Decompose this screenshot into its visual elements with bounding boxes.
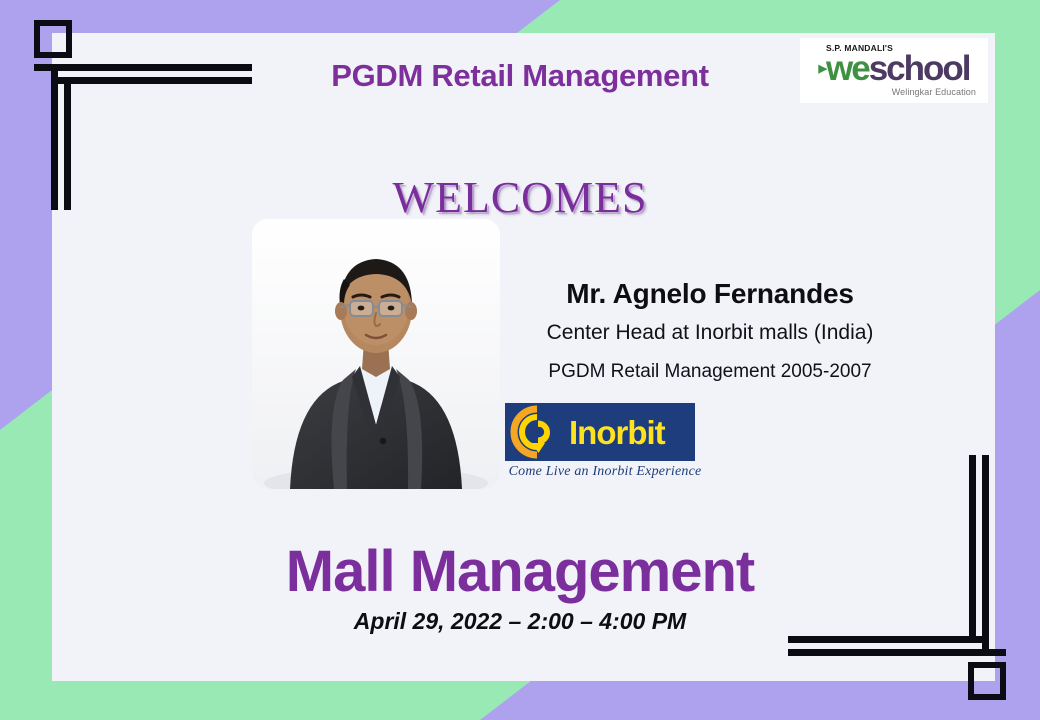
- weschool-word-school: school: [869, 51, 970, 86]
- speaker-photo: [252, 219, 500, 489]
- speaker-role: Center Head at Inorbit malls (India): [500, 321, 920, 345]
- weschool-tagline: Welingkar Education: [800, 87, 988, 97]
- ornament-line-vertical-outer: [51, 64, 58, 210]
- weschool-word-we: we: [826, 51, 869, 86]
- ornament-line-horizontal-outer: [34, 64, 252, 71]
- corner-ornament-bottom-right: [776, 455, 1006, 700]
- ornament-square-icon: [968, 662, 1006, 700]
- ornament-line-horizontal-inner: [788, 636, 989, 643]
- event-poster: PGDM Retail Management S.P. MANDALI'S ▶ …: [0, 0, 1040, 720]
- corner-ornament-top-left: [34, 20, 264, 210]
- inorbit-wordmark: Inorbit: [569, 416, 665, 449]
- inorbit-logo: Inorbit: [505, 403, 695, 461]
- speaker-name: Mr. Agnelo Fernandes: [500, 278, 920, 310]
- play-arrow-icon: ▶: [819, 64, 825, 75]
- weschool-wordmark: ▶ we school: [819, 51, 970, 86]
- inorbit-spiral-icon: [505, 403, 565, 461]
- inorbit-tagline: Come Live an Inorbit Experience: [505, 464, 705, 480]
- ornament-line-vertical-inner: [969, 455, 976, 643]
- speaker-program: PGDM Retail Management 2005-2007: [500, 361, 920, 383]
- ornament-line-horizontal-inner: [51, 77, 252, 84]
- speaker-headshot-icon: [252, 219, 500, 489]
- page-title: PGDM Retail Management: [270, 58, 770, 94]
- ornament-line-vertical-inner: [64, 77, 71, 210]
- ornament-line-vertical-outer: [982, 455, 989, 656]
- ornament-square-icon: [34, 20, 72, 58]
- ornament-line-horizontal-outer: [788, 649, 1006, 656]
- weschool-logo: S.P. MANDALI'S ▶ we school Welingkar Edu…: [800, 38, 988, 103]
